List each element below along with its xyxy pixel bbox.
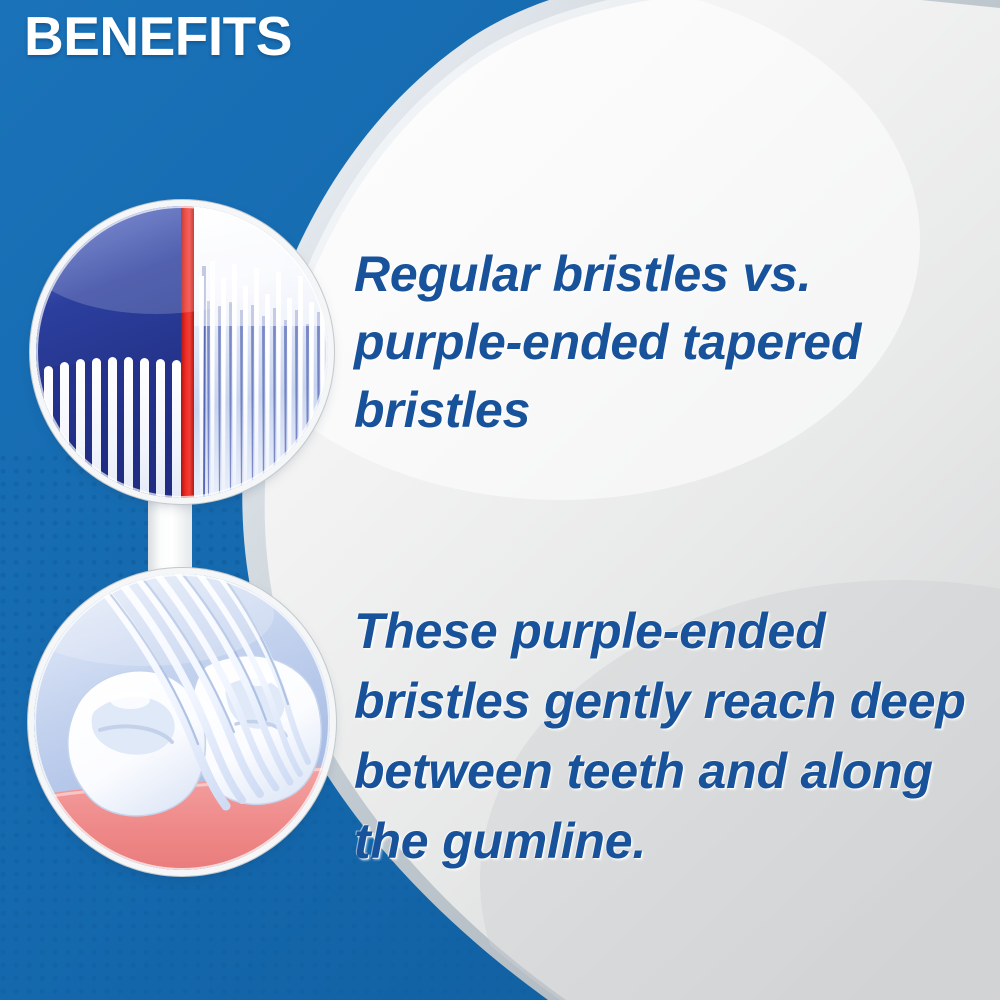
benefit-image-bristle-comparison: [36, 206, 328, 498]
page-title: BENEFITS: [24, 6, 292, 67]
benefits-panel: BENEFITS: [0, 0, 1000, 1000]
tooth-left: [68, 671, 206, 816]
benefit-text-gumline-reach: These purple-ended bristles gently reach…: [354, 596, 974, 876]
benefit-image-gumline-reach: [34, 574, 330, 870]
benefit-text-bristle-comparison: Regular bristles vs. purple-ended tapere…: [354, 240, 964, 444]
